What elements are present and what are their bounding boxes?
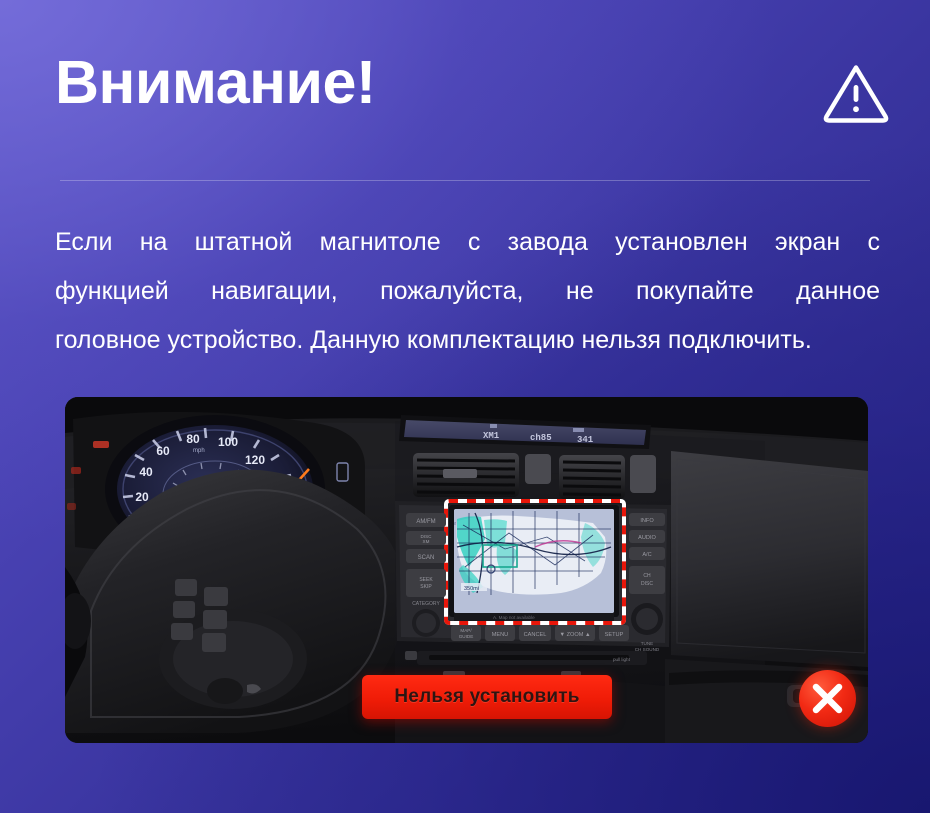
- svg-text:100: 100: [218, 435, 238, 449]
- dash-display-source: XM1: [483, 431, 500, 441]
- cannot-install-banner: Нельзя установить: [362, 675, 612, 719]
- bottom-button-row: MAP/ GUIDE MENU CANCEL ▼ ZOOM ▲ SETUP: [451, 625, 629, 641]
- header-divider: [60, 180, 870, 181]
- svg-text:INFO: INFO: [640, 518, 654, 524]
- svg-text:AUDIO: AUDIO: [638, 535, 656, 541]
- svg-text:▼ ZOOM ▲: ▼ ZOOM ▲: [560, 632, 591, 638]
- svg-text:SEEK: SEEK: [419, 577, 433, 583]
- svg-text:DISC: DISC: [641, 581, 653, 587]
- nav-scale-label: 350mi: [464, 586, 479, 592]
- warning-message-line-3: головное устройство. Данную комплектацию…: [55, 316, 880, 365]
- svg-text:120: 120: [245, 453, 265, 467]
- svg-text:CATEGORY: CATEGORY: [412, 601, 440, 607]
- page-title: Внимание!: [55, 52, 376, 113]
- svg-text:XM: XM: [423, 539, 430, 544]
- svg-text:SKIP: SKIP: [420, 584, 432, 590]
- svg-text:SCAN: SCAN: [418, 555, 435, 561]
- header: Внимание!: [0, 0, 930, 180]
- svg-text:MENU: MENU: [492, 632, 508, 638]
- svg-text:A. Map not available: A. Map not available: [493, 615, 535, 620]
- svg-text:CH: CH: [643, 573, 651, 579]
- svg-text:AM/FM: AM/FM: [416, 519, 435, 525]
- svg-text:80: 80: [186, 432, 200, 446]
- warning-triangle-icon: [822, 62, 890, 124]
- svg-text:60: 60: [156, 444, 170, 458]
- promo-banner-page: Внимание! Если на штатной магнитоле с за…: [0, 0, 930, 813]
- warning-message-line-1: Если на штатной магнитоле с завода устан…: [55, 218, 880, 267]
- svg-text:CANCEL: CANCEL: [524, 632, 547, 638]
- cross-circle-icon: [799, 670, 856, 727]
- warning-message: Если на штатной магнитоле с завода устан…: [55, 218, 880, 365]
- svg-text:GUIDE: GUIDE: [459, 634, 474, 639]
- dash-display-preset: 341: [577, 435, 594, 445]
- svg-text:A/C: A/C: [642, 552, 651, 558]
- svg-text:TUNE: TUNE: [641, 641, 654, 646]
- svg-text:mph: mph: [193, 448, 205, 454]
- svg-text:pull light: pull light: [613, 657, 631, 662]
- warning-message-line-2: функцией навигации, пожалуйста, не покуп…: [55, 267, 880, 316]
- svg-text:MAP/: MAP/: [460, 628, 472, 633]
- dash-display-channel: ch85: [530, 433, 552, 443]
- svg-text:SETUP: SETUP: [605, 632, 624, 638]
- svg-text:20: 20: [135, 490, 149, 504]
- cannot-install-label: Нельзя установить: [394, 686, 579, 708]
- svg-text:40: 40: [139, 465, 153, 479]
